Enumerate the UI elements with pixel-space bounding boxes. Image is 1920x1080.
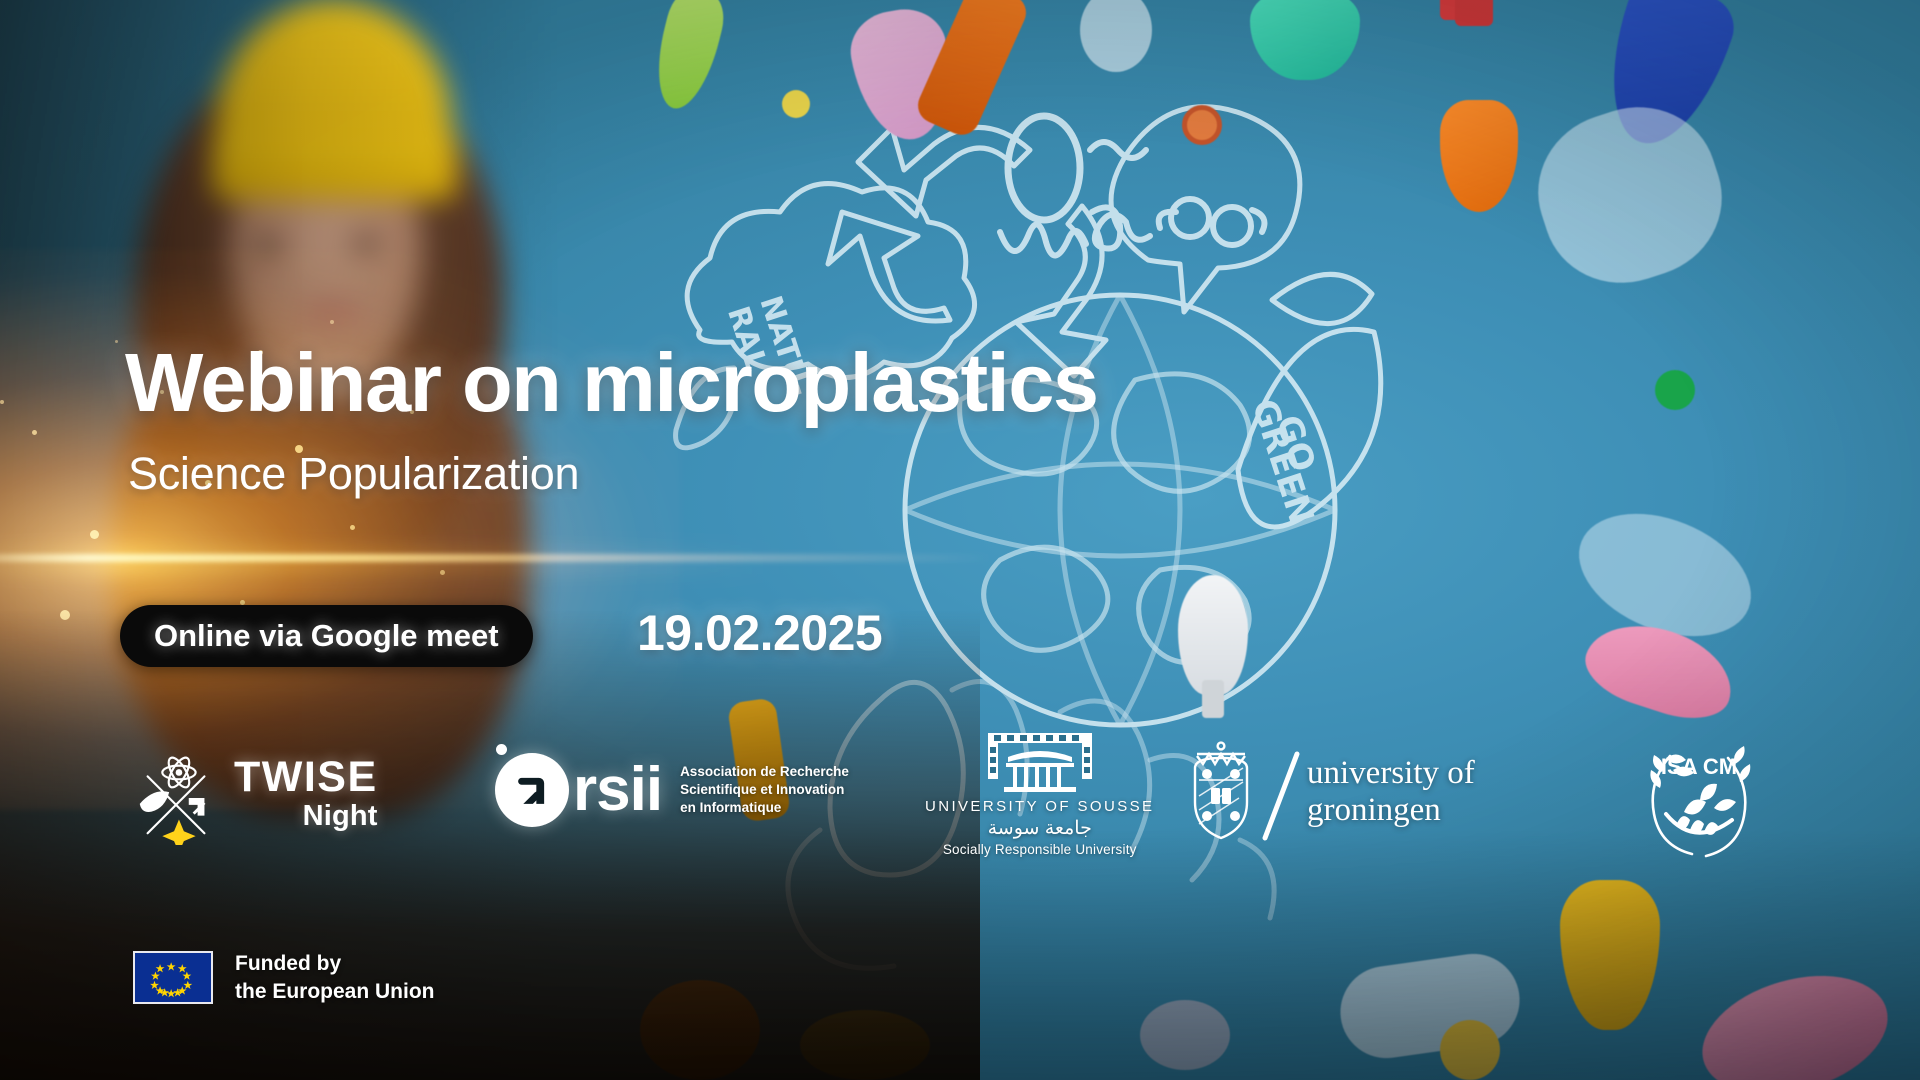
webinar-poster: NATU- RAL waste GO GREEN [0,0,1920,1080]
logo-university-of-groningen[interactable]: university of groningen [1185,740,1475,844]
eu-flag-icon [133,951,213,1004]
arsii-desc-line-2: Scientifique et Innovation [680,781,849,799]
groningen-word-line-2: groningen [1307,792,1475,829]
twise-wordmark: TWISE [234,757,378,798]
arsii-emblem-icon [495,753,569,827]
logo-twise-night[interactable]: TWISE Night [128,747,378,845]
sousse-name-en: UNIVERSITY OF SOUSSE [925,798,1154,815]
page-title: Webinar on microplastics [125,341,1098,424]
isacm-wordmark: ISA CM [1661,754,1737,779]
logo-isa-cm[interactable]: ISA CM [1640,738,1758,858]
location-badge[interactable]: Online via Google meet [120,605,533,667]
eu-funding-line-2: the European Union [235,978,435,1006]
groningen-wordmark: university of groningen [1307,755,1475,829]
event-date: 19.02.2025 [637,604,882,662]
eu-funding-text: Funded by the European Union [235,950,435,1005]
eu-funding-badge: Funded by the European Union [133,950,435,1005]
groningen-slash-icon [1257,740,1305,844]
logo-university-of-sousse[interactable]: UNIVERSITY OF SOUSSE جامعة سوسة Socially… [925,731,1154,857]
partner-logo-strip: TWISE Night rsii Association de Recherch… [0,735,1920,870]
page-subtitle: Science Popularization [128,451,579,496]
twise-subword: Night [234,798,378,834]
sousse-tagline: Socially Responsible University [943,842,1137,857]
eu-funding-line-1: Funded by [235,950,435,978]
sousse-name-ar: جامعة سوسة [988,817,1092,840]
isacm-wreath-icon: ISA CM [1640,738,1758,858]
arsii-description: Association de Recherche Scientifique et… [680,763,849,817]
location-badge-label: Online via Google meet [154,618,499,654]
arsii-wordmark: rsii [573,765,662,815]
sousse-gateway-icon [980,731,1100,793]
groningen-crest-icon [1185,740,1257,844]
arsii-desc-line-3: en Informatique [680,799,849,817]
twise-emblem-icon [128,747,226,845]
arsii-desc-line-1: Association de Recherche [680,763,849,781]
groningen-word-line-1: university of [1307,755,1475,792]
logo-arsii[interactable]: rsii Association de Recherche Scientifiq… [495,753,849,827]
